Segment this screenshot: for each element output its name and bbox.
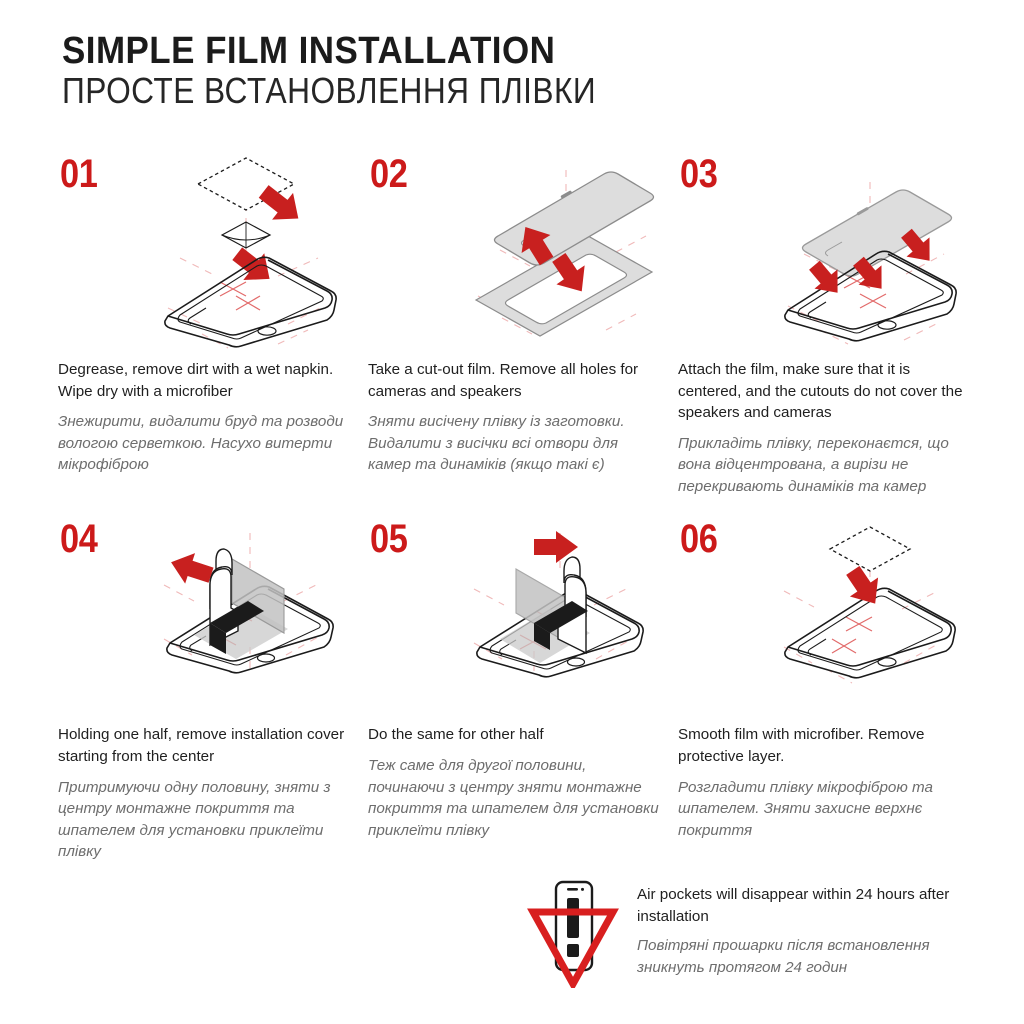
step-01-illustration-area: 01 (58, 148, 368, 353)
steps-row-2: 04 (0, 513, 1024, 862)
step-05-text-ua: Теж саме для другої половини, починаючи … (368, 755, 660, 841)
step-04-text-en: Holding one half, remove installation co… (58, 724, 350, 767)
step-06-text: Smooth film with microfiber. Remove prot… (678, 718, 970, 841)
step-number-04: 04 (60, 517, 97, 562)
step-03-text-en: Attach the film, make sure that it is ce… (678, 359, 970, 424)
napkin-and-microfiber-onto-phone-icon (128, 148, 368, 353)
warning-triangle-phone-icon (525, 876, 621, 988)
step-06-text-en: Smooth film with microfiber. Remove prot… (678, 724, 970, 767)
warning-text-en: Air pockets will disappear within 24 hou… (637, 884, 982, 927)
peel-left-half-with-finger-icon (128, 513, 368, 718)
steps-grid: 01 (0, 148, 1024, 863)
step-02-text-ua: Зняти висічену плівку із заготовки. Вида… (368, 411, 660, 476)
step-03-text-ua: Прикладіть плівку, переконаєтся, що вона… (678, 433, 970, 498)
step-card-06: 06 (678, 513, 988, 862)
step-04-text-ua: Притримуючи одну половину, зняти з центр… (58, 777, 350, 863)
step-01-text-ua: Знежирити, видалити бруд та розводи воло… (58, 411, 350, 476)
step-01-text-en: Degrease, remove dirt with a wet napkin.… (58, 359, 350, 402)
step-card-02: 02 (368, 148, 678, 497)
step-01-text: Degrease, remove dirt with a wet napkin.… (58, 353, 350, 476)
step-number-05: 05 (370, 517, 407, 562)
step-05-text-en: Do the same for other half (368, 724, 660, 746)
step-number-01: 01 (60, 152, 97, 197)
step-04-illustration-area: 04 (58, 513, 368, 718)
step-05-illustration-area: 05 (368, 513, 678, 718)
step-02-illustration-area: 02 (368, 148, 678, 353)
smooth-with-microfiber-icon (748, 513, 988, 718)
step-04-text: Holding one half, remove installation co… (58, 718, 350, 862)
step-card-01: 01 (58, 148, 368, 497)
warning-block: Air pockets will disappear within 24 hou… (525, 876, 985, 988)
step-card-03: 03 (678, 148, 988, 497)
warning-text: Air pockets will disappear within 24 hou… (637, 876, 982, 978)
step-05-text: Do the same for other half Теж саме для … (368, 718, 660, 841)
step-02-text: Take a cut-out film. Remove all holes fo… (368, 353, 660, 476)
step-06-illustration-area: 06 (678, 513, 988, 718)
film-lifted-from-cutout-sheet-icon (438, 148, 678, 353)
film-attached-onto-phone-icon (748, 148, 988, 353)
step-card-05: 05 (368, 513, 678, 862)
step-03-illustration-area: 03 (678, 148, 988, 353)
header: SIMPLE FILM INSTALLATION ПРОСТЕ ВСТАНОВЛ… (62, 32, 669, 110)
step-02-text-en: Take a cut-out film. Remove all holes fo… (368, 359, 660, 402)
step-card-04: 04 (58, 513, 368, 862)
step-06-text-ua: Розгладити плівку мікрофіброю та шпателе… (678, 777, 970, 842)
infographic-page: SIMPLE FILM INSTALLATION ПРОСТЕ ВСТАНОВЛ… (0, 0, 1024, 1024)
warning-text-ua: Повітряні прошарки після встановлення зн… (637, 935, 982, 978)
peel-right-half-with-finger-icon (438, 513, 678, 718)
step-number-06: 06 (680, 517, 717, 562)
page-title-en: SIMPLE FILM INSTALLATION (62, 32, 620, 70)
step-03-text: Attach the film, make sure that it is ce… (678, 353, 970, 497)
steps-row-1: 01 (0, 148, 1024, 497)
step-number-03: 03 (680, 152, 717, 197)
page-title-ua: ПРОСТЕ ВСТАНОВЛЕННЯ ПЛІВКИ (62, 72, 596, 110)
step-number-02: 02 (370, 152, 407, 197)
